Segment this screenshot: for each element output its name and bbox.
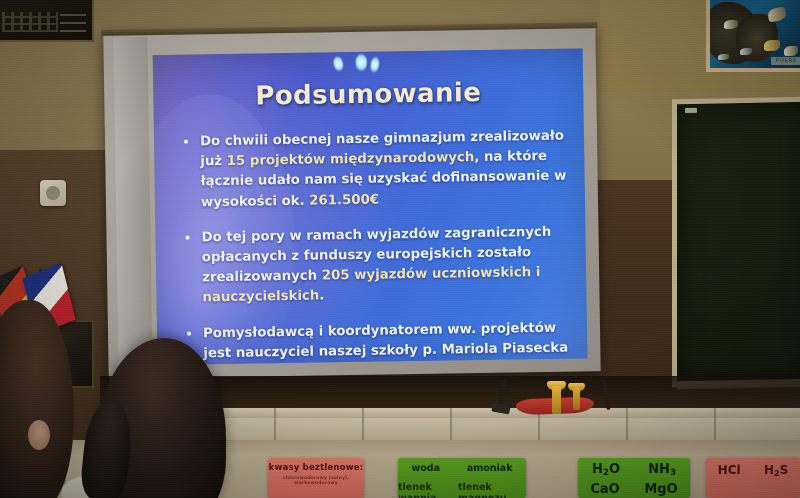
card-cell: amoniak [467,463,513,474]
slide-bullet-2: Do tej pory w ramach wyjazdów zagraniczn… [181,222,582,309]
card-cell: tlenek magnezu [458,482,526,498]
green-chalkboard [672,97,800,388]
lab-stand-a [552,386,561,414]
slide-highlight-text: 261.500€ [309,192,379,208]
lab-stand-b [573,388,580,410]
wall-card-h2o-nh3: H2O NH3 CaO MgO [578,458,690,498]
slide-title: Podsumowanie [153,76,583,113]
fish-icon [740,48,752,55]
wall-card-hcl-h2s: HCl H2S [706,458,800,498]
card-row-1: woda amoniak [398,463,526,474]
card-row-2: tlenek wapnia tlenek magnezu [398,482,526,498]
card-cell: NH3 [648,462,676,477]
wall-dark-panel [0,0,94,42]
light-glare-icon [332,55,344,72]
fish-icon [718,54,729,60]
screen-fold-shadow [113,37,152,378]
panel-texture-icon [2,12,58,32]
fish-icon [764,40,780,51]
fish-icon [724,20,738,29]
card-subtitle: chlorowodorowy (solny), siarkowodorowy [268,476,364,486]
card-title: kwasy beztlenowe: [268,463,364,473]
presentation-slide: Podsumowanie Do chwili obecnej nasze gim… [153,48,588,365]
student-ear [28,420,50,450]
wall-card-kwasy-beztlenowe: kwasy beztlenowe: chlorowodorowy (solny)… [268,458,364,498]
card-cell: CaO [590,482,619,497]
card-row-2: CaO MgO [578,482,690,497]
slide-highlight-text: 15 projektów międzynarodowych [227,150,475,169]
card-cell: H2O [592,462,620,477]
socket-hole-icon [46,186,60,200]
chalkboard-clip-icon [685,108,697,113]
wall-power-socket[interactable] [40,180,66,206]
card-cell: tlenek wapnia [398,482,458,498]
slide-body-text: . [319,289,324,304]
slide-bullet-list: Do chwili obecnej nasze gimnazjum zreali… [180,126,584,365]
aquarium-fish-poster: PIXERS [706,0,800,72]
light-glare-icon [356,54,367,71]
light-glare-icon [370,56,380,73]
projection-screen: Podsumowanie Do chwili obecnej nasze gim… [103,26,600,379]
slide-bullet-1: Do chwili obecnej nasze gimnazjum zreali… [180,126,581,213]
card-cell: H2S [764,463,788,477]
panel-marking-icon [60,10,86,32]
card-cell: MgO [644,482,677,497]
classroom-photo-scene: PIXERS Podsumowanie Do chwili obecnej na… [0,0,800,498]
poster-watermark: PIXERS [771,57,800,65]
card-cell: woda [411,463,440,474]
slide-body-text: Pomysłodawcą i koordynatorem ww. projekt… [203,320,568,361]
card-cell: HCl [718,463,741,477]
fish-icon [784,46,798,56]
card-row-1: H2O NH3 [578,462,690,477]
fish-icon [767,7,787,23]
card-row-1: HCl H2S [706,463,800,477]
wall-card-woda-amoniak: woda amoniak tlenek wapnia tlenek magnez… [398,458,526,498]
slide-bullet-3: Pomysłodawcą i koordynatorem ww. projekt… [183,318,584,365]
